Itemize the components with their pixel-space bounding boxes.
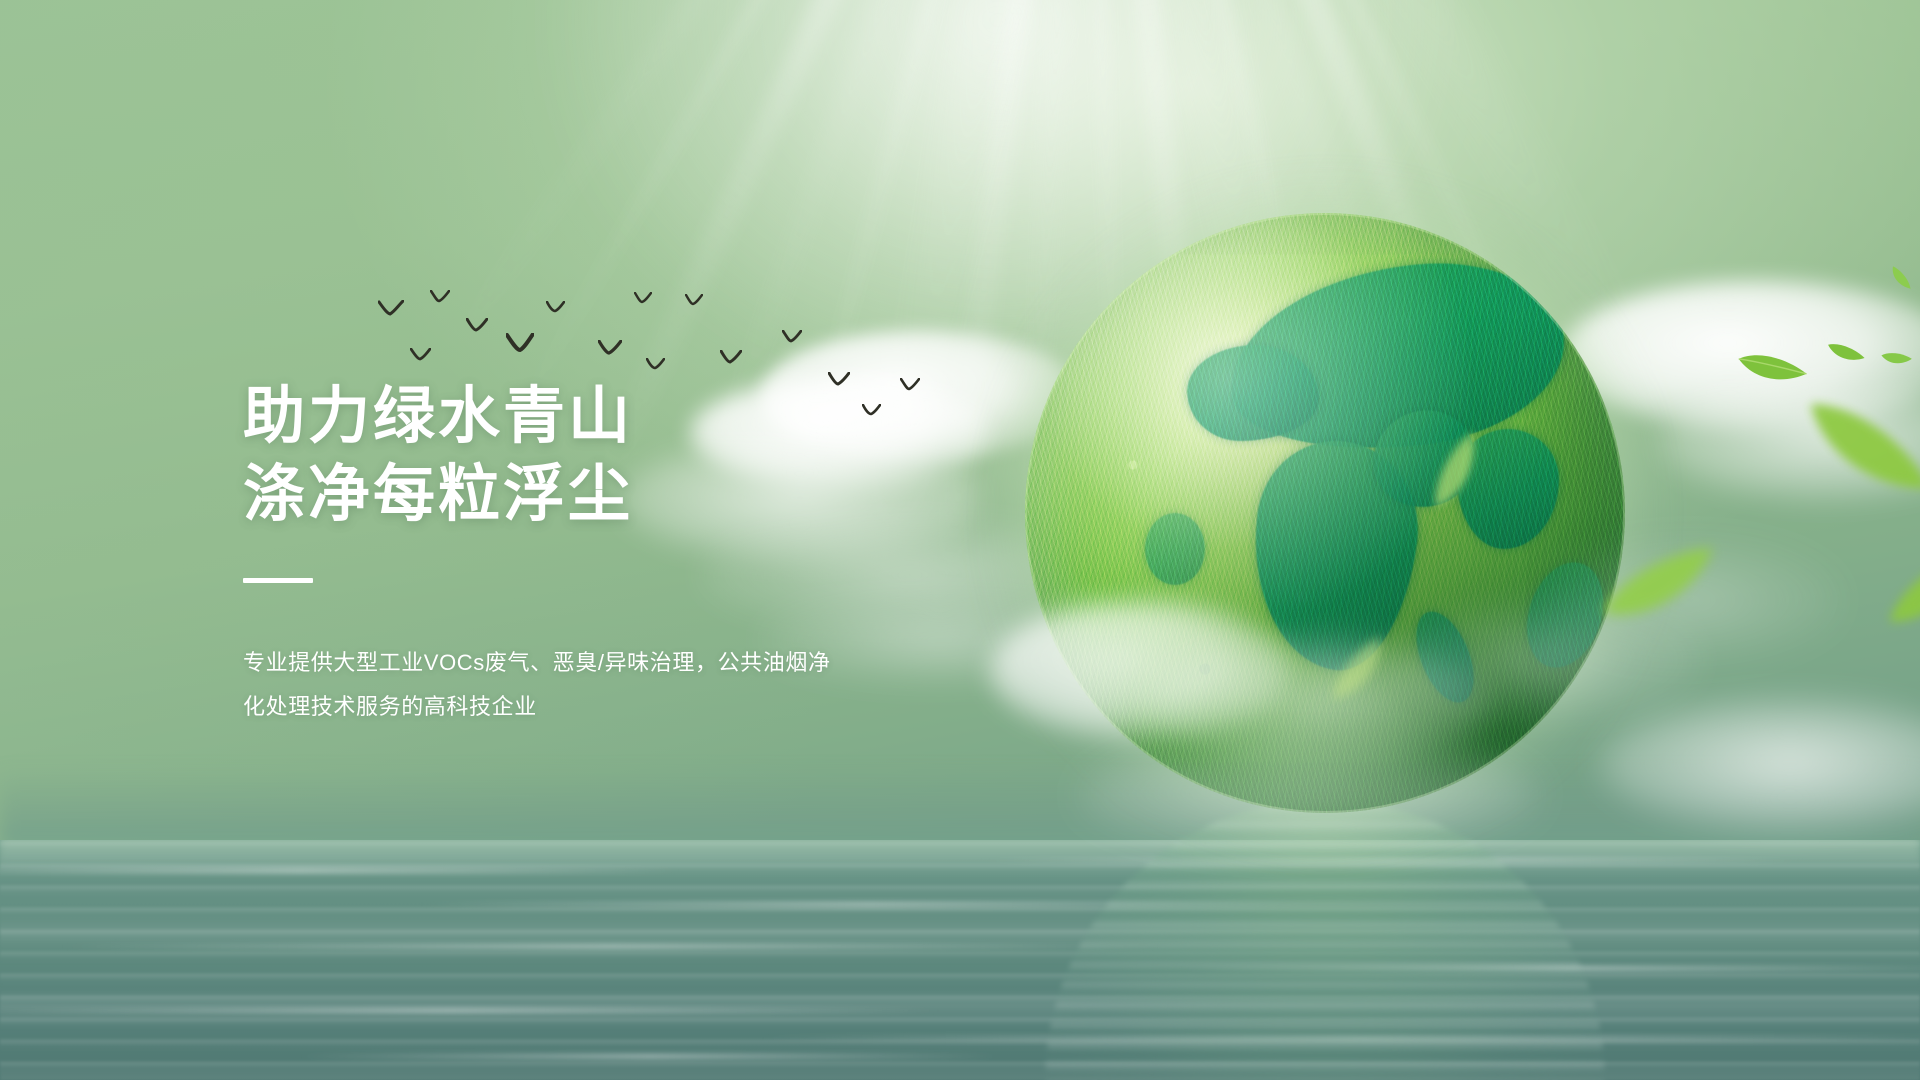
hero-subtitle-line-2: 化处理技术服务的高科技企业	[243, 685, 903, 729]
hero-banner: 助力绿水青山 涤净每粒浮尘 专业提供大型工业VOCs废气、恶臭/异味治理，公共油…	[0, 0, 1920, 1080]
page-title-line-2: 涤净每粒浮尘	[243, 456, 963, 534]
globe-reflection	[1045, 800, 1605, 1080]
hero-subtitle: 专业提供大型工业VOCs废气、恶臭/异味治理，公共油烟净 化处理技术服务的高科技…	[243, 641, 903, 729]
water-shelf	[0, 768, 1920, 848]
page-title-line-1: 助力绿水青山	[243, 378, 963, 456]
hero-subtitle-line-1: 专业提供大型工业VOCs废气、恶臭/异味治理，公共油烟净	[243, 641, 903, 685]
title-divider	[243, 578, 313, 583]
hero-copy: 助力绿水青山 涤净每粒浮尘 专业提供大型工业VOCs废气、恶臭/异味治理，公共油…	[243, 378, 963, 729]
earth-globe	[1025, 213, 1625, 813]
globe-sphere	[1025, 213, 1625, 813]
water-surface	[0, 840, 1920, 1080]
globe-grass-texture	[1025, 213, 1625, 813]
